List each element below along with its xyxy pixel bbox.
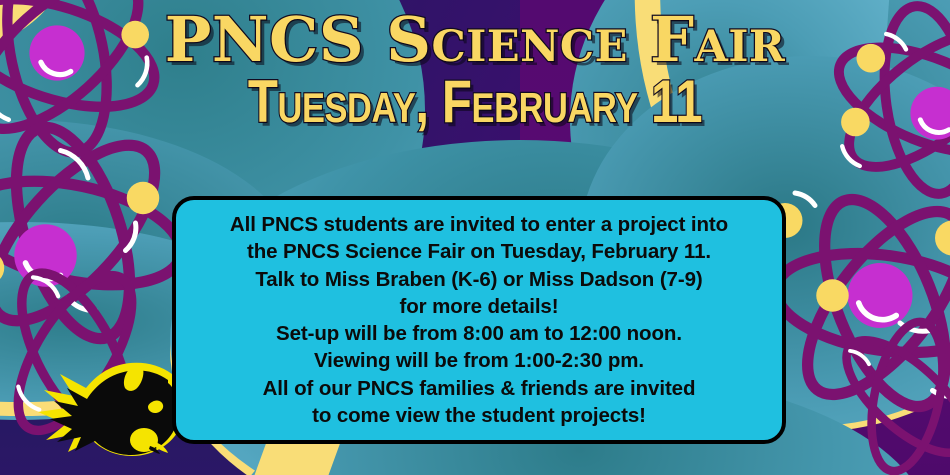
atom-icon-right-lower bbox=[812, 330, 950, 475]
announcement-line-5: Set-up will be from 8:00 am to 12:00 noo… bbox=[230, 320, 728, 347]
announcement-text: All PNCS students are invited to enter a… bbox=[216, 211, 742, 429]
announcement-line-7: All of our PNCS families & friends are i… bbox=[230, 375, 728, 402]
announcement-line-4: for more details! bbox=[230, 293, 728, 320]
announcement-line-8: to come view the student projects! bbox=[230, 402, 728, 429]
science-fair-poster: PNCS Science Fair Tuesday, February 11 A… bbox=[0, 0, 950, 475]
announcement-line-3: Talk to Miss Braben (K-6) or Miss Dadson… bbox=[230, 266, 728, 293]
announcement-line-6: Viewing will be from 1:00-2:30 pm. bbox=[230, 347, 728, 374]
announcement-line-1: All PNCS students are invited to enter a… bbox=[230, 211, 728, 238]
announcement-line-2: the PNCS Science Fair on Tuesday, Februa… bbox=[230, 238, 728, 265]
announcement-panel: All PNCS students are invited to enter a… bbox=[172, 196, 786, 444]
